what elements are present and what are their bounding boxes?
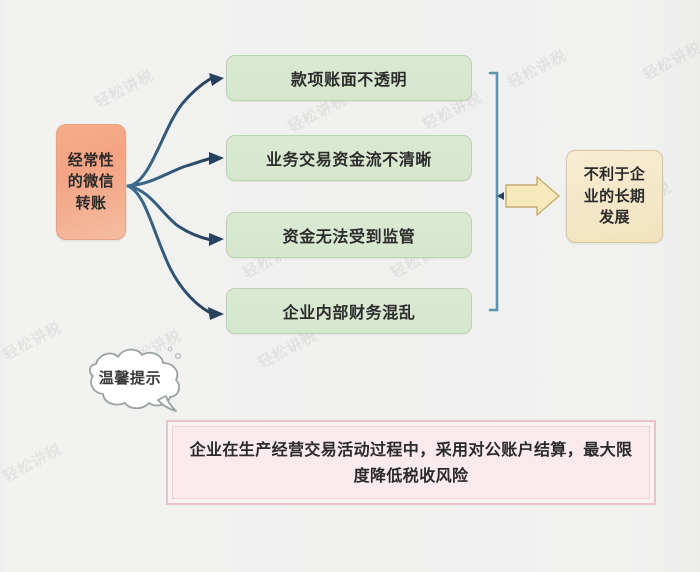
tip-box: 企业在生产经营交易活动过程中，采用对公账户结算，最大限度降低税收风险: [166, 420, 656, 505]
bracket-tick-icon: [497, 192, 504, 200]
cloud-callout-label: 温馨提示: [76, 354, 184, 400]
result-node[interactable]: 不利于企 业的长期 发展: [566, 150, 663, 243]
transition-arrow-icon: [506, 177, 559, 215]
cause-box-3[interactable]: 资金无法受到监管: [226, 212, 472, 258]
cause-box-label: 企业内部财务混乱: [283, 299, 416, 323]
watermark: 轻松讲税: [0, 438, 65, 487]
diagram-canvas: 轻松讲税 轻松讲税 轻松讲税 轻松讲税 轻松讲税 轻松讲税 轻松讲税 轻松讲税 …: [0, 0, 700, 572]
tip-box-inner: 企业在生产经营交易活动过程中，采用对公账户结算，最大限度降低税收风险: [172, 426, 650, 499]
watermark: 轻松讲税: [639, 36, 700, 85]
watermark: 轻松讲税: [504, 44, 570, 93]
source-node-label: 经常性 的微信 转账: [68, 150, 115, 214]
connector-curves: [128, 79, 212, 312]
watermark: 轻松讲税: [91, 64, 157, 113]
cause-box-4[interactable]: 企业内部财务混乱: [226, 288, 472, 334]
connector-arrowheads: [208, 73, 224, 320]
cloud-callout: 温馨提示: [76, 354, 184, 408]
result-node-label: 不利于企 业的长期 发展: [584, 164, 646, 229]
cause-box-label: 资金无法受到监管: [283, 223, 416, 247]
cause-box-label: 业务交易资金流不清晰: [266, 146, 432, 170]
cause-box-2[interactable]: 业务交易资金流不清晰: [226, 135, 472, 181]
cause-box-label: 款项账面不透明: [291, 66, 407, 90]
cause-box-1[interactable]: 款项账面不透明: [226, 55, 472, 101]
grouping-bracket: [490, 73, 497, 310]
watermark: 轻松讲税: [0, 316, 65, 365]
source-node[interactable]: 经常性 的微信 转账: [56, 124, 126, 240]
tip-text: 企业在生产经营交易活动过程中，采用对公账户结算，最大限度降低税收风险: [187, 437, 635, 489]
